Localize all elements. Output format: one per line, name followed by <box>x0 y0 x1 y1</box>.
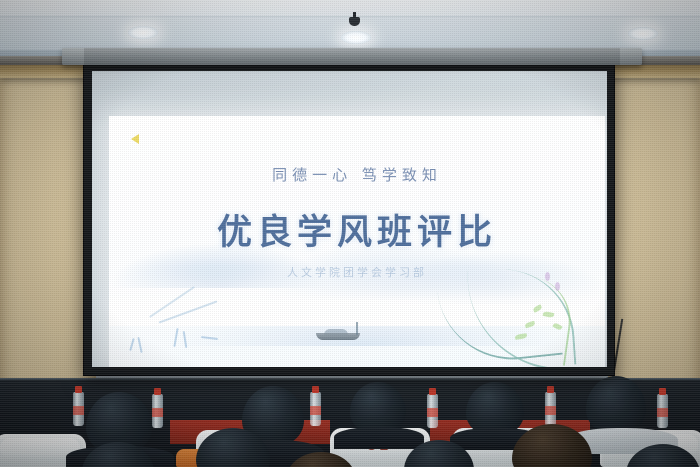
shrub-strokes <box>127 269 277 361</box>
water-bottle <box>657 394 668 428</box>
orchid-grass-illustration <box>437 257 597 367</box>
projection-screen-frame: 同德一心 笃学致知 优良学风班评比 人文学院团学会学习部 <box>83 62 615 376</box>
boat-mast <box>356 322 358 335</box>
shrub-stroke <box>137 337 142 353</box>
water-bottle <box>152 394 163 428</box>
water-bottle <box>427 394 438 428</box>
slide-title: 优良学风班评比 <box>109 204 605 255</box>
presentation-slide: 同德一心 笃学致知 优良学风班评比 人文学院团学会学习部 <box>109 116 605 367</box>
orchid-bloom <box>545 272 550 281</box>
housing-cap-right <box>620 48 642 65</box>
orchid-bloom <box>555 282 560 291</box>
downlight-center <box>341 31 371 44</box>
water-bottle <box>73 392 84 426</box>
shrub-stroke <box>173 328 178 347</box>
play-triangle-cursor-icon <box>131 134 139 144</box>
shrub-stroke <box>183 331 188 348</box>
audience-shoulders <box>334 427 424 449</box>
right-curtain <box>608 60 700 390</box>
left-curtain <box>0 60 96 390</box>
slide-subtitle: 同德一心 笃学致知 <box>109 164 605 185</box>
downlight-left <box>128 26 158 39</box>
shrub-stroke <box>129 338 135 351</box>
boat-illustration <box>312 329 364 341</box>
projector-screen-housing <box>62 48 642 65</box>
audience-head <box>586 376 646 434</box>
shrub-stroke <box>149 286 195 318</box>
water-bottle <box>310 392 321 426</box>
boat-hull <box>316 333 360 340</box>
ceiling-strip <box>0 0 700 17</box>
lecture-hall-photo: 同德一心 笃学致知 优良学风班评比 人文学院团学会学习部 <box>0 0 700 467</box>
projection-screen-surface: 同德一心 笃学致知 优良学风班评比 人文学院团学会学习部 <box>92 71 607 367</box>
housing-cap-left <box>62 48 84 65</box>
ceiling-sprinkler-icon <box>349 17 360 26</box>
downlight-right <box>628 27 658 40</box>
water-bottle <box>545 392 556 426</box>
shrub-stroke <box>201 336 218 340</box>
